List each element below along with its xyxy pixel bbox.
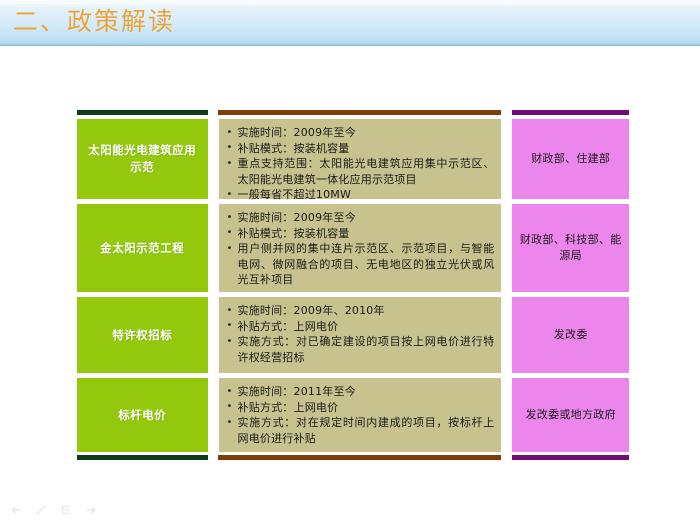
list-item: 补贴模式：按装机容量 <box>225 226 495 242</box>
list-item: 实施方式：对已确定建设的项目按上网电价进行特许权经营招标 <box>225 334 495 365</box>
menu-icon[interactable] <box>59 503 73 517</box>
policy-name-label: 标杆电价 <box>118 407 166 424</box>
slideshow-nav-controls <box>9 503 98 517</box>
policy-agency-label: 财政部、住建部 <box>531 151 610 167</box>
accent-bar-detail-column <box>218 455 501 460</box>
pen-icon[interactable] <box>34 503 48 517</box>
policy-agency-cell[interactable]: 发改委 <box>512 297 629 373</box>
table-row: 标杆电价 实施时间：2011年至今 补贴方式：上网电价 实施方式：对在规定时间内… <box>77 378 629 452</box>
list-item: 一般每省不超过10MW <box>225 187 495 203</box>
policy-name-cell[interactable]: 金太阳示范工程 <box>77 204 208 292</box>
list-item: 重点支持范围：太阳能光电建筑应用集中示范区、太阳能光电建筑一体化应用示范项目 <box>225 156 495 187</box>
cell-gap <box>501 378 512 452</box>
list-item: 补贴模式：按装机容量 <box>225 141 495 157</box>
policy-name-cell[interactable]: 标杆电价 <box>77 378 208 452</box>
policy-agency-cell[interactable]: 发改委或地方政府 <box>512 378 629 452</box>
accent-gap-1 <box>208 455 219 460</box>
table-top-accent-bars <box>77 110 629 115</box>
cell-gap <box>208 378 219 452</box>
policy-detail-cell: 实施时间：2009年、2010年 补贴方式：上网电价 实施方式：对已确定建设的项… <box>219 297 502 373</box>
accent-bar-agency-column <box>512 110 629 115</box>
policy-detail-list: 实施时间：2009年、2010年 补贴方式：上网电价 实施方式：对已确定建设的项… <box>225 303 495 365</box>
cell-gap <box>208 297 219 373</box>
list-item: 实施方式：对在规定时间内建成的项目，按标杆上网电价进行补贴 <box>225 415 495 446</box>
policy-agency-cell[interactable]: 财政部、住建部 <box>512 119 629 199</box>
table-body: 太阳能光电建筑应用示范 实施时间：2009年至今 补贴模式：按装机容量 重点支持… <box>77 119 629 452</box>
cell-gap <box>208 119 219 199</box>
policy-agency-label: 发改委 <box>554 327 588 343</box>
policy-agency-cell[interactable]: 财政部、科技部、能源局 <box>512 204 629 292</box>
list-item: 实施时间：2011年至今 <box>225 384 495 400</box>
accent-bar-name-column <box>77 455 208 460</box>
list-item: 补贴方式：上网电价 <box>225 319 495 335</box>
list-item: 实施时间：2009年至今 <box>225 125 495 141</box>
accent-gap-2 <box>501 455 512 460</box>
cell-gap <box>208 204 219 292</box>
list-item: 实施时间：2009年、2010年 <box>225 303 495 319</box>
accent-bar-detail-column <box>218 110 501 115</box>
policy-detail-cell: 实施时间：2009年至今 补贴模式：按装机容量 用户侧并网的集中连片示范区、示范… <box>219 204 502 292</box>
policy-name-label: 特许权招标 <box>112 327 172 344</box>
next-slide-icon[interactable] <box>84 503 98 517</box>
policy-name-cell[interactable]: 特许权招标 <box>77 297 208 373</box>
policy-detail-list: 实施时间：2009年至今 补贴模式：按装机容量 用户侧并网的集中连片示范区、示范… <box>225 210 495 288</box>
policy-detail-cell: 实施时间：2011年至今 补贴方式：上网电价 实施方式：对在规定时间内建成的项目… <box>219 378 502 452</box>
previous-slide-icon[interactable] <box>9 503 23 517</box>
list-item: 用户侧并网的集中连片示范区、示范项目，与智能电网、微网融合的项目、无电地区的独立… <box>225 241 495 288</box>
accent-bar-name-column <box>77 110 208 115</box>
accent-gap-2 <box>501 110 512 115</box>
accent-gap-1 <box>208 110 219 115</box>
table-bottom-accent-bars <box>77 455 629 460</box>
policy-table: 太阳能光电建筑应用示范 实施时间：2009年至今 补贴模式：按装机容量 重点支持… <box>77 110 629 460</box>
slide-header: 二、政策解读 <box>0 0 700 46</box>
cell-gap <box>501 297 512 373</box>
policy-agency-label: 发改委或地方政府 <box>525 407 615 423</box>
policy-name-label: 金太阳示范工程 <box>100 240 184 257</box>
policy-name-cell[interactable]: 太阳能光电建筑应用示范 <box>77 119 208 199</box>
policy-detail-list: 实施时间：2011年至今 补贴方式：上网电价 实施方式：对在规定时间内建成的项目… <box>225 384 495 446</box>
policy-name-label: 太阳能光电建筑应用示范 <box>85 142 200 176</box>
list-item: 补贴方式：上网电价 <box>225 400 495 416</box>
cell-gap <box>501 119 512 199</box>
accent-bar-agency-column <box>512 455 629 460</box>
policy-agency-label: 财政部、科技部、能源局 <box>519 232 622 264</box>
table-row: 金太阳示范工程 实施时间：2009年至今 补贴模式：按装机容量 用户侧并网的集中… <box>77 204 629 292</box>
cell-gap <box>501 204 512 292</box>
table-row: 太阳能光电建筑应用示范 实施时间：2009年至今 补贴模式：按装机容量 重点支持… <box>77 119 629 199</box>
policy-detail-list: 实施时间：2009年至今 补贴模式：按装机容量 重点支持范围：太阳能光电建筑应用… <box>225 125 495 203</box>
page-title: 二、政策解读 <box>13 3 175 41</box>
table-row: 特许权招标 实施时间：2009年、2010年 补贴方式：上网电价 实施方式：对已… <box>77 297 629 373</box>
list-item: 实施时间：2009年至今 <box>225 210 495 226</box>
policy-detail-cell: 实施时间：2009年至今 补贴模式：按装机容量 重点支持范围：太阳能光电建筑应用… <box>219 119 502 199</box>
